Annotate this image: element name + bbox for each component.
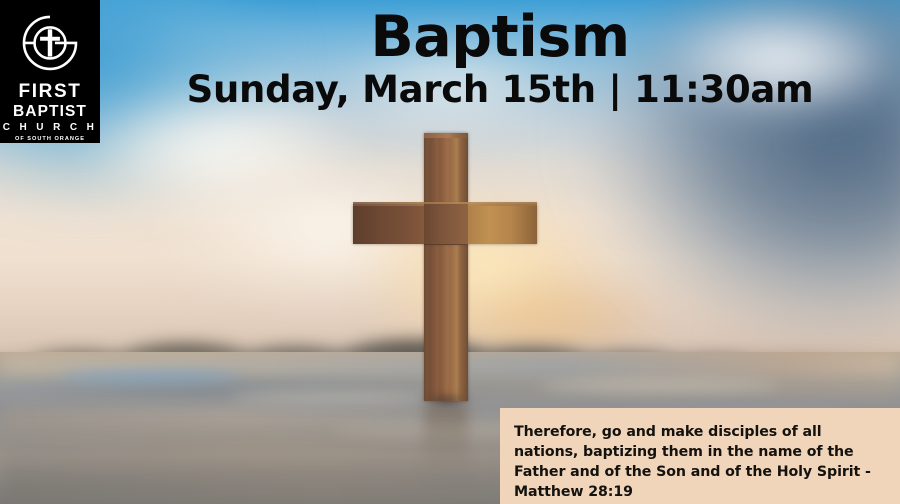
baptism-announcement-graphic: FIRST BAPTIST C H U R C H OF SOUTH ORANG… — [0, 0, 900, 504]
water-glint — [540, 380, 780, 391]
church-logo: FIRST BAPTIST C H U R C H OF SOUTH ORANG… — [0, 0, 100, 143]
cross-waterline-base — [420, 396, 472, 412]
logo-line-baptist: BAPTIST — [13, 104, 87, 120]
cross-wood-grain — [424, 133, 468, 401]
cross-reflection — [424, 404, 468, 484]
scripture-quote-box: Therefore, go and make disciples of all … — [500, 408, 900, 504]
water-glint — [60, 372, 240, 381]
cross-post-top-face — [424, 133, 468, 138]
logo-line-church: C H U R C H — [3, 123, 98, 133]
water-glint — [230, 392, 430, 402]
logo-line-first: FIRST — [19, 82, 82, 101]
circle-cross-emblem-icon — [19, 12, 81, 74]
cross-joint — [424, 204, 468, 245]
headline-block: Baptism Sunday, March 15th | 11:30am — [100, 8, 900, 111]
scripture-quote-text: Therefore, go and make disciples of all … — [514, 422, 884, 503]
page-title: Baptism — [100, 8, 900, 66]
event-details: Sunday, March 15th | 11:30am — [100, 70, 900, 111]
logo-line-location: OF SOUTH ORANGE — [15, 137, 85, 143]
